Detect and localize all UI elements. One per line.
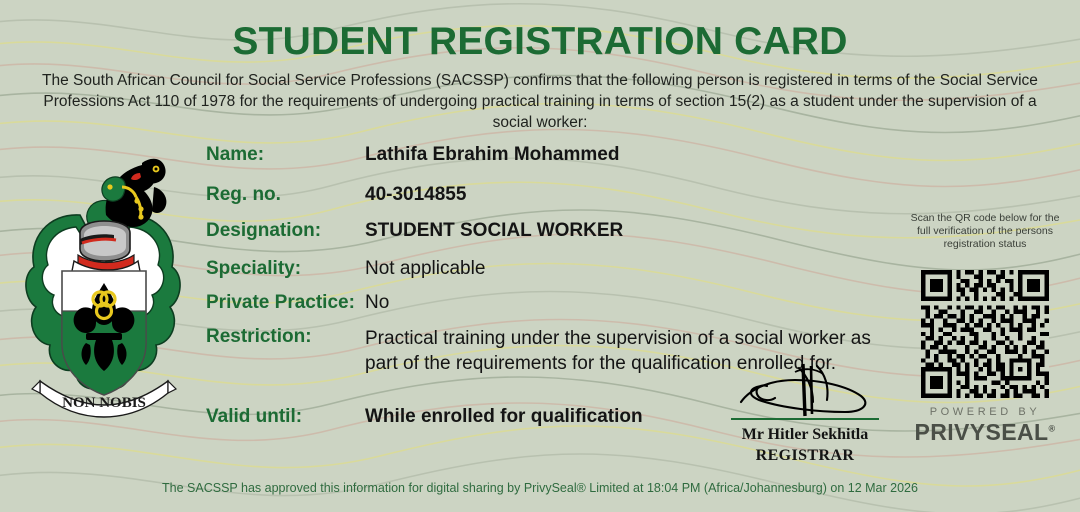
- field-value-speciality: Not applicable: [365, 258, 485, 280]
- field-value-reg-no: 40-3014855: [365, 184, 466, 206]
- field-label-designation: Designation:: [206, 220, 321, 242]
- field-value-valid-until: While enrolled for qualification: [365, 406, 643, 428]
- registrar-name: Mr Hitler Sekhitla: [725, 426, 885, 444]
- qr-instruction-text: Scan the QR code below for the full veri…: [905, 212, 1065, 251]
- sacssp-coat-of-arms-icon: NON NOBIS: [18, 143, 188, 418]
- qr-code[interactable]: [921, 270, 1049, 398]
- field-label-reg-no: Reg. no.: [206, 184, 281, 206]
- field-label-private-practice: Private Practice:: [206, 292, 355, 314]
- field-value-designation: STUDENT SOCIAL WORKER: [365, 220, 623, 242]
- registrar-signature-icon: [725, 362, 885, 418]
- privyseal-brand: POWERED BY PRIVYSEAL®: [905, 406, 1065, 446]
- field-value-name: Lathifa Ebrahim Mohammed: [365, 144, 619, 166]
- registered-trademark-icon: ®: [1048, 423, 1055, 433]
- signature-block: Mr Hitler Sekhitla REGISTRAR: [725, 362, 885, 465]
- footer-approval-text: The SACSSP has approved this information…: [0, 481, 1080, 495]
- brand-name-text: PRIVYSEAL: [914, 419, 1048, 445]
- field-label-restriction: Restriction:: [206, 326, 312, 348]
- signature-rule: [731, 418, 879, 420]
- student-registration-card: STUDENT REGISTRATION CARD The South Afri…: [0, 0, 1080, 512]
- field-label-valid-until: Valid until:: [206, 406, 302, 428]
- field-label-name: Name:: [206, 144, 264, 166]
- registrar-role: REGISTRAR: [725, 447, 885, 465]
- brand-powered-by-label: POWERED BY: [905, 406, 1065, 418]
- page-title: STUDENT REGISTRATION CARD: [0, 20, 1080, 64]
- brand-name: PRIVYSEAL®: [905, 419, 1065, 446]
- field-value-private-practice: No: [365, 292, 389, 314]
- intro-paragraph: The South African Council for Social Ser…: [30, 70, 1050, 133]
- field-label-speciality: Speciality:: [206, 258, 301, 280]
- emblem-motto: NON NOBIS: [62, 395, 146, 411]
